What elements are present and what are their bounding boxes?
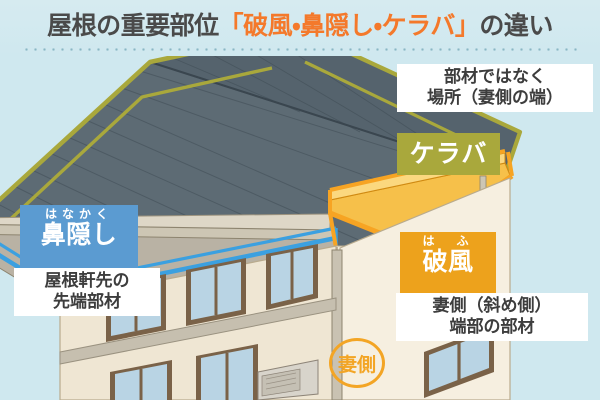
kerama-description-line2: 場所（妻側の端） [404, 88, 586, 109]
hafu-term: 破風 [400, 248, 496, 276]
hanakakushi-description-box: 屋根軒先の 先端部材 [14, 268, 160, 316]
hanakakushi-term: 鼻隠し [20, 221, 138, 249]
title-prefix: 屋根の重要部位 [47, 11, 219, 40]
hafu-description-line1: 妻側（斜め側） [403, 296, 581, 317]
infographic-root: 屋根の重要部位「破風・鼻隠し・ケラバ」の違い 部材ではなく 場所（妻側の端） ケ… [0, 0, 600, 400]
title-quote-open: 「 [219, 11, 244, 40]
hanakakushi-term-tag: はなかく 鼻隠し [20, 205, 138, 268]
hanakakushi-description-line2: 先端部材 [21, 292, 153, 313]
hanakakushi-description-line1: 屋根軒先の [21, 271, 153, 292]
hafu-description-box: 妻側（斜め側） 端部の部材 [396, 293, 588, 341]
tsumagawa-badge: 妻側 [329, 338, 385, 388]
window-upper-2 [186, 258, 246, 326]
kerama-description-box: 部材ではなく 場所（妻側の端） [397, 64, 593, 112]
tsumagawa-label: 妻側 [338, 354, 376, 376]
kerama-term-tag: ケラバ [397, 133, 500, 175]
hafu-term-tag: は ふ 破風 [400, 232, 496, 293]
title-highlight: 破風・鼻隠し・ケラバ [243, 11, 455, 40]
hanakakushi-furigana: はなかく [20, 205, 138, 221]
kerama-description-line1: 部材ではなく [404, 67, 586, 88]
hafu-furigana: は ふ [400, 232, 496, 248]
title-quote-close: 」 [455, 11, 480, 40]
title-divider-dotted [22, 48, 578, 51]
kerama-term: ケラバ [410, 139, 488, 168]
page-title: 屋根の重要部位「破風・鼻隠し・ケラバ」の違い [0, 6, 600, 42]
hafu-description-line2: 端部の部材 [403, 317, 581, 338]
title-suffix: の違い [479, 11, 553, 40]
